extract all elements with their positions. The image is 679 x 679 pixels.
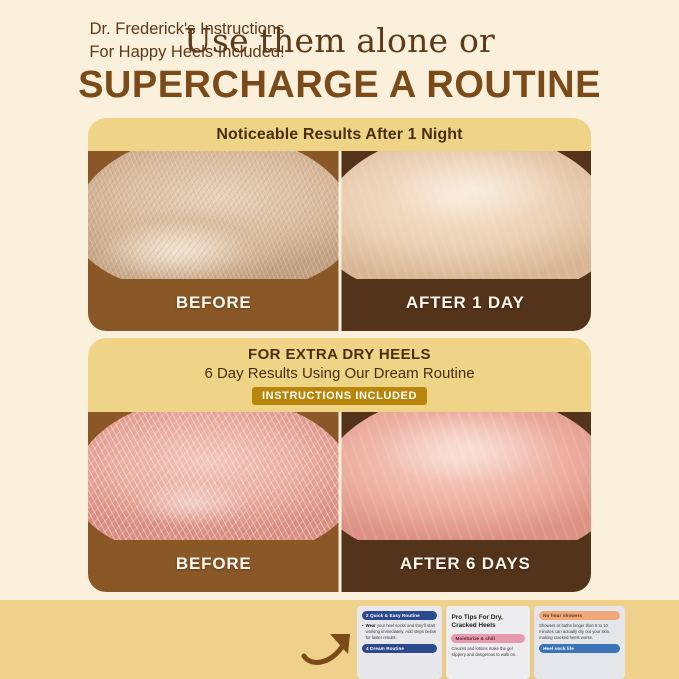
- panel-1-after-label: AFTER 1 DAY: [340, 279, 592, 331]
- card1-pill-quick-routine: 2 Quick & Easy Routine: [362, 611, 437, 620]
- instructions-callout-line-1: Dr. Frederick's Instructions: [72, 18, 302, 41]
- before-heel-photo-dry: [88, 151, 340, 279]
- comparison-panel-6-days: FOR EXTRA DRY HEELS 6 Day Results Using …: [88, 338, 591, 592]
- panel-1-header: Noticeable Results After 1 Night: [88, 118, 591, 151]
- card2-pill-moisturize: Moisturize & chill: [451, 634, 525, 643]
- panel-2-header-sub: 6 Day Results Using Our Dream Routine: [88, 365, 591, 382]
- panel-1-before-label: BEFORE: [88, 279, 340, 331]
- infographic-page: Use them alone or SUPERCHARGE A ROUTINE …: [0, 0, 679, 679]
- panel-1-after-side: AFTER 1 DAY: [340, 151, 592, 331]
- heading-line-2: SUPERCHARGE A ROUTINE: [0, 64, 679, 108]
- instruction-card-pro-tips: Pro Tips For Dry, Cracked Heels Moisturi…: [446, 606, 530, 679]
- card2-title: Pro Tips For Dry, Cracked Heels: [451, 614, 525, 630]
- curved-arrow-icon: [300, 626, 362, 668]
- panel-2-body: BEFORE AFTER 6 DAYS: [88, 412, 591, 592]
- instruction-card-showers: No hour showers Showers or baths longer …: [534, 606, 625, 679]
- panel-2-after-label: AFTER 6 DAYS: [340, 540, 592, 592]
- after-heel-photo-healed: [340, 412, 592, 540]
- before-heel-photo-cracked: [88, 412, 340, 540]
- after-heel-photo-smooth: [340, 151, 592, 279]
- panel-1-before-side: BEFORE: [88, 151, 340, 331]
- comparison-panel-1-night: Noticeable Results After 1 Night BEFORE …: [88, 118, 591, 331]
- card3-body: Showers or baths longer than 5 to 10 min…: [539, 623, 620, 641]
- panel-2-before-label: BEFORE: [88, 540, 340, 592]
- panel-2-divider: [338, 412, 341, 592]
- panel-2-header-caps: FOR EXTRA DRY HEELS: [88, 346, 591, 363]
- instruction-card-routine: 2 Quick & Easy Routine Wear your heel so…: [357, 606, 442, 679]
- card2-body: Creams and lotions make the gel slippery…: [451, 646, 525, 658]
- card3-pill-no-hour-showers: No hour showers: [539, 611, 620, 620]
- panel-2-after-side: AFTER 6 DAYS: [340, 412, 592, 592]
- panel-1-body: BEFORE AFTER 1 DAY: [88, 151, 591, 331]
- card1-body-text: your heel socks and they'll start workin…: [366, 623, 436, 640]
- card1-pill-dream-routine: 4 Dream Routine: [362, 644, 437, 653]
- instructions-included-badge: INSTRUCTIONS INCLUDED: [252, 387, 427, 405]
- panel-2-header: FOR EXTRA DRY HEELS 6 Day Results Using …: [88, 338, 591, 412]
- instructions-callout: Dr. Frederick's Instructions For Happy H…: [72, 18, 302, 64]
- panel-1-header-text: Noticeable Results After 1 Night: [88, 126, 591, 144]
- card3-pill-heel-sock-life: Heel sock life: [539, 644, 620, 653]
- instructions-callout-line-2: For Happy Heels Included!: [72, 41, 302, 64]
- card1-body-lead: Wear: [366, 623, 376, 628]
- panel-2-before-side: BEFORE: [88, 412, 340, 592]
- card1-body: Wear your heel socks and they'll start w…: [362, 623, 437, 641]
- panel-1-divider: [338, 151, 341, 331]
- instruction-cards: 2 Quick & Easy Routine Wear your heel so…: [357, 606, 625, 679]
